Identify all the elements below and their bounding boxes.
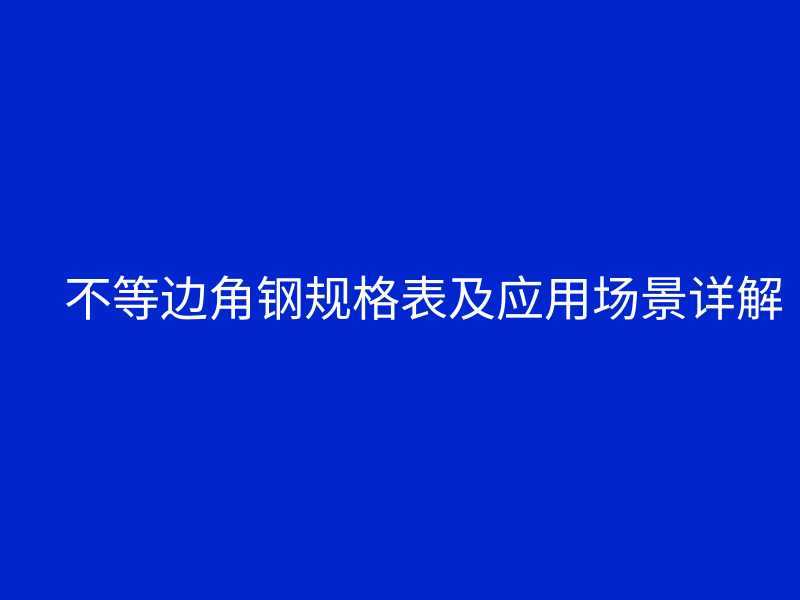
- article-banner: 不等边角钢规格表及应用场景详解: [0, 0, 800, 600]
- headline-container: 不等边角钢规格表及应用场景详解: [64, 0, 784, 600]
- banner-title: 不等边角钢规格表及应用场景详解: [64, 276, 784, 324]
